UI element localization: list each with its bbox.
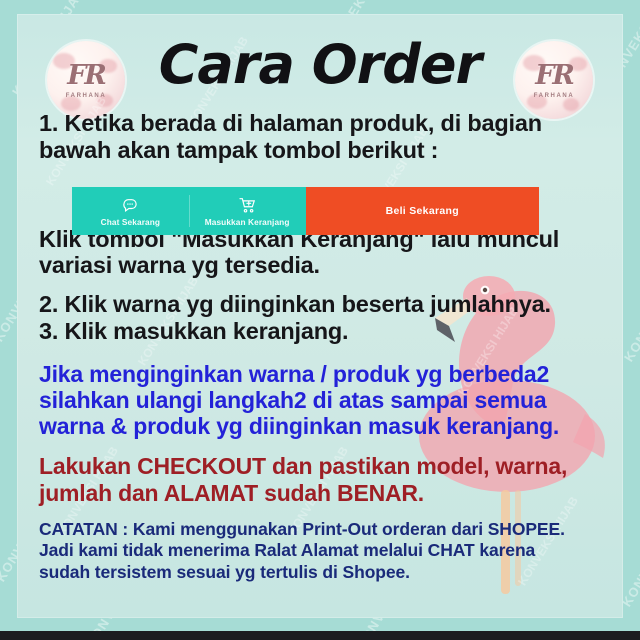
blue-note-line2: silahkan ulangi langkah2 di atas sampai …	[39, 387, 609, 413]
blue-note-line1: Jika menginginkan warna / produk yg berb…	[39, 361, 609, 387]
poster-panel: KONVEKSI HIJAB KONVEKSI HIJAB KONVEKSI H…	[17, 14, 623, 618]
step1-line2: bawah akan tampak tombol berikut :	[39, 137, 609, 164]
step2: 2. Klik warna yg diinginkan beserta juml…	[39, 291, 609, 318]
red-note-line2: jumlah dan ALAMAT sudah BENAR.	[39, 480, 609, 506]
beli-sekarang-button[interactable]: Beli Sekarang	[306, 187, 540, 235]
shopee-teal-group: Chat Sekarang Masukkan Keranjang	[72, 187, 306, 235]
catatan-line1: CATATAN : Kami menggunakan Print-Out ord…	[39, 519, 609, 541]
red-note-line1: Lakukan CHECKOUT dan pastikan model, war…	[39, 453, 609, 479]
blue-note-line3: warna & produk yg diinginkan masuk keran…	[39, 413, 609, 439]
masukkan-keranjang-label: Masukkan Keranjang	[205, 217, 290, 227]
page-title: Cara Order	[17, 38, 623, 92]
step3: 3. Klik masukkan keranjang.	[39, 318, 609, 345]
watermark-border-right-mid: KONVEKSI HIJAB	[621, 251, 640, 365]
logo-brand-name: FARHANA	[66, 93, 107, 99]
catatan-line3: sudah tersistem sesuai yg tertulis di Sh…	[39, 562, 609, 584]
chat-sekarang-label: Chat Sekarang	[101, 217, 160, 227]
instructions-content: 1. Ketika berada di halaman produk, di b…	[39, 110, 609, 584]
chat-sekarang-button[interactable]: Chat Sekarang	[72, 187, 189, 235]
logo-brand-name: FARHANA	[534, 93, 575, 99]
poster-frame: KONVEKSI HIJAB KONVEKSI HIJAB KONVEKSI H…	[0, 0, 640, 640]
chat-bubble-icon	[121, 196, 140, 215]
catatan-line2: Jadi kami tidak menerima Ralat Alamat me…	[39, 540, 609, 562]
bottom-strip	[0, 631, 640, 640]
masukkan-keranjang-button[interactable]: Masukkan Keranjang	[189, 187, 306, 235]
step1-line1: 1. Ketika berada di halaman produk, di b…	[39, 110, 609, 137]
beli-sekarang-label: Beli Sekarang	[386, 205, 459, 217]
shopee-button-bar: Chat Sekarang Masukkan Keranjang	[72, 187, 539, 235]
after-buttons-line2: variasi warna yg tersedia.	[39, 252, 609, 279]
cart-plus-icon	[238, 196, 257, 215]
